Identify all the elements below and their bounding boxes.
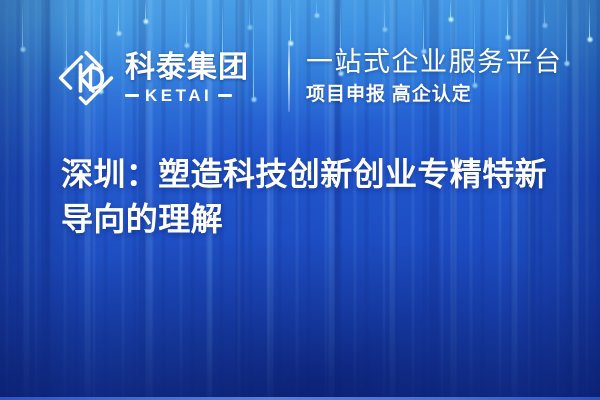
header-divider	[288, 40, 290, 112]
brand-name-en: KETAI	[145, 87, 212, 104]
brand-dash-right-icon	[218, 94, 232, 97]
brand-name-cn: 科泰集团	[125, 53, 249, 83]
tagline-group: 一站式企业服务平台 项目申报 高企认定	[306, 40, 563, 112]
brand-logo-group: 科泰集团 KETAI	[56, 40, 249, 116]
page-title: 深圳：塑造科技创新创业专精特新导向的理解	[61, 152, 561, 243]
tagline-secondary: 项目申报 高企认定	[306, 85, 563, 104]
brand-name-en-row: KETAI	[125, 87, 249, 104]
ketai-diamond-kd-logo-icon	[56, 48, 116, 108]
promo-banner: 科泰集团 KETAI 一站式企业服务平台 项目申报 高企认定 深圳：塑造科技创新…	[0, 0, 600, 400]
tagline-primary: 一站式企业服务平台	[306, 48, 563, 78]
brand-text-block: 科泰集团 KETAI	[125, 53, 249, 104]
brand-dash-left-icon	[125, 94, 139, 97]
